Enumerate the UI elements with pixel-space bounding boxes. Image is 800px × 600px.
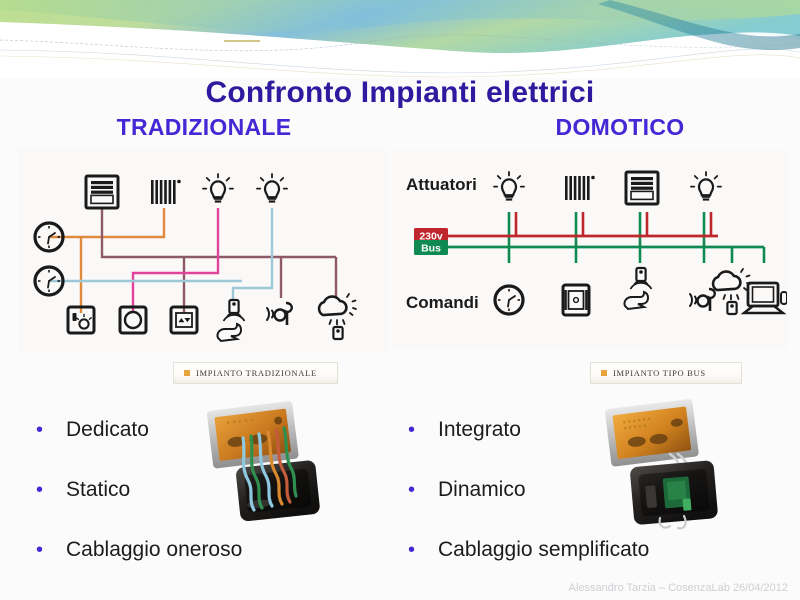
- label-attuatori: Attuatori: [406, 175, 477, 194]
- caption-impianto-tipo-bus: IMPIANTO TIPO BUS: [590, 362, 742, 384]
- photo-traditional-socket: [196, 392, 326, 532]
- list-item: • Cablaggio oneroso: [36, 538, 366, 598]
- bullet-dot-icon: •: [36, 540, 66, 560]
- bullet-dot-icon: •: [408, 540, 438, 560]
- bus-label-chip: Bus: [414, 240, 448, 255]
- slide-banner-decoration: [0, 0, 800, 78]
- bullet-label: Statico: [66, 478, 130, 502]
- svg-text:Bus: Bus: [421, 243, 441, 255]
- bullet-label: Integrato: [438, 418, 521, 442]
- caption-right-label: IMPIANTO TIPO BUS: [613, 368, 706, 378]
- bullet-dot-icon: •: [36, 480, 66, 500]
- clock-icon: [35, 223, 63, 251]
- diagram-bus-wiring: 230v Bus Attuatori Comandi: [392, 150, 787, 350]
- bullet-label: Cablaggio oneroso: [66, 538, 242, 562]
- footer-credit: Alessandro Tarzia – CosenzaLab 26/04/201…: [569, 582, 788, 594]
- caption-square-bullet-icon: [601, 370, 607, 376]
- bullet-dot-icon: •: [408, 420, 438, 440]
- diagram-traditional-wiring: [18, 148, 388, 353]
- bullet-label: Cablaggio semplificato: [438, 538, 649, 562]
- caption-left-label: IMPIANTO TRADIZIONALE: [196, 368, 317, 378]
- bullet-label: Dedicato: [66, 418, 149, 442]
- page-title: Confronto Impianti elettrici: [0, 76, 800, 110]
- bullet-dot-icon: •: [408, 480, 438, 500]
- label-comandi: Comandi: [406, 293, 479, 312]
- caption-impianto-tradizionale: IMPIANTO TRADIZIONALE: [173, 362, 338, 384]
- photo-bus-socket: [598, 392, 723, 532]
- bullet-label: Dinamico: [438, 478, 526, 502]
- clock-icon: [495, 286, 523, 314]
- clock-icon: [35, 267, 63, 295]
- bullet-dot-icon: •: [36, 420, 66, 440]
- subtitle-domotic: DOMOTICO: [500, 114, 740, 141]
- caption-square-bullet-icon: [184, 370, 190, 376]
- subtitle-traditional: TRADIZIONALE: [84, 114, 324, 141]
